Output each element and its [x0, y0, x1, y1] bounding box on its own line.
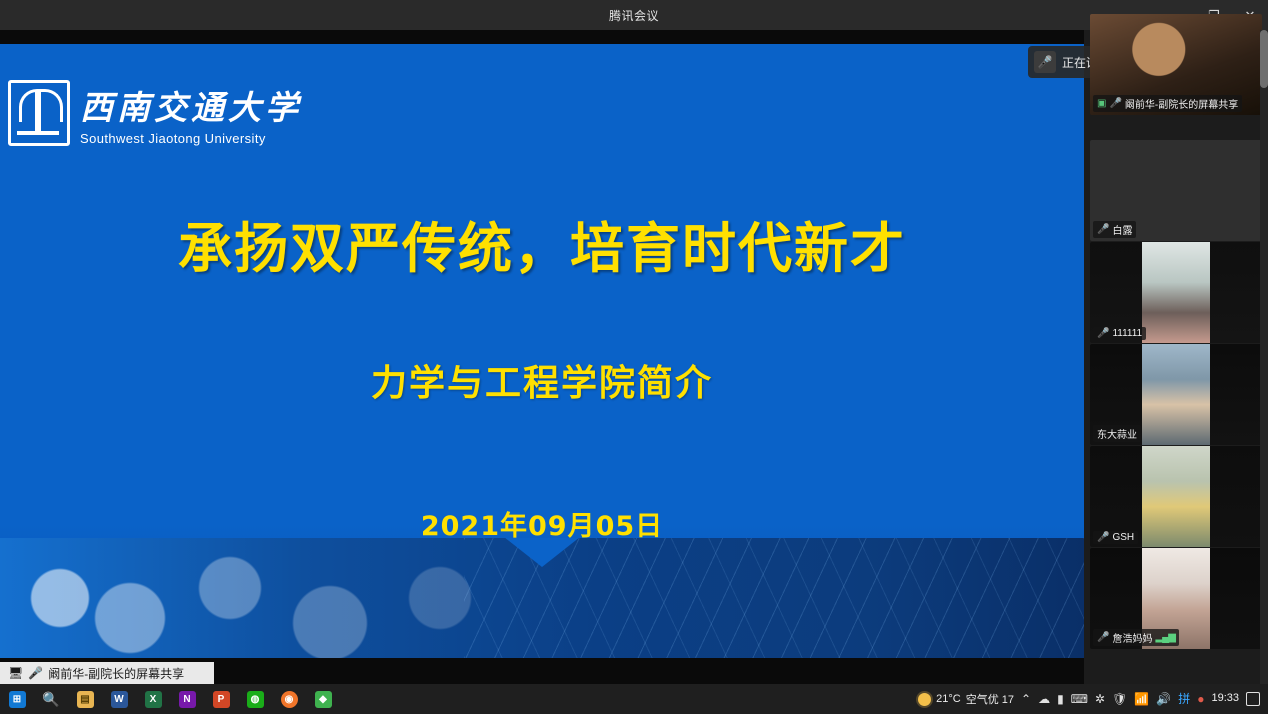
participant-camera-frame — [1142, 344, 1210, 445]
screen-share-label: 阚前华-副院长的屏幕共享 — [48, 665, 184, 682]
keyboard-icon[interactable]: ⌨ — [1071, 693, 1088, 705]
volume-icon[interactable]: 🔊 — [1156, 693, 1171, 705]
scrollbar-thumb[interactable] — [1260, 30, 1268, 88]
shield-icon[interactable]: 🛡 — [1112, 693, 1127, 705]
onenote-icon[interactable]: N — [170, 684, 204, 714]
participant-tile[interactable]: 🎤 詹浩妈妈 ▂▄▆ — [1090, 548, 1262, 649]
participant-scrollbar[interactable] — [1260, 30, 1268, 684]
participant-name-badge: ▣ 🎤 阚前华-副院长的屏幕共享 — [1093, 95, 1242, 112]
participant-name-badge: 🎤 白露 — [1093, 221, 1136, 238]
university-logo: 西南交通大学 Southwest Jiaotong University — [8, 80, 302, 146]
participant-name-badge: 东大蒜业 — [1093, 425, 1141, 442]
microphone-icon: 🎤 — [28, 667, 43, 679]
battery-icon[interactable]: ▮ — [1057, 693, 1064, 705]
screen-share-indicator: 🖥 🎤 阚前华-副院长的屏幕共享 — [0, 662, 214, 684]
microsoft-word-icon[interactable]: W — [102, 684, 136, 714]
university-name-cn: 西南交通大学 — [80, 81, 302, 129]
bluetooth-icon[interactable]: ✲ — [1095, 693, 1105, 705]
presentation-slide: 西南交通大学 Southwest Jiaotong University 承扬双… — [0, 44, 1084, 658]
clock-time: 19:33 — [1211, 693, 1239, 705]
microsoft-excel-icon[interactable]: X — [136, 684, 170, 714]
air-quality: 空气优 17 — [966, 691, 1014, 707]
tray-expand-icon[interactable]: ⌃ — [1021, 693, 1031, 705]
shared-screen-area[interactable]: 西南交通大学 Southwest Jiaotong University 承扬双… — [0, 30, 1084, 684]
weather-temperature: 21°C — [936, 693, 961, 705]
screen: 腾讯会议 — ❐ ✕ 西南交通大学 Southwest Jiaotong Uni… — [0, 0, 1268, 714]
audio-level-icon: ▂▄▆ — [1155, 632, 1174, 643]
participant-camera-frame — [1142, 242, 1210, 343]
microphone-muted-icon: 🎤 — [1034, 51, 1056, 73]
university-crest-icon — [8, 80, 70, 146]
search-icon[interactable]: 🔍 — [34, 684, 68, 714]
microphone-muted-icon: 🎤 — [1097, 532, 1109, 543]
ime-icon[interactable]: 拼 — [1178, 693, 1190, 705]
participant-name: GSH — [1112, 532, 1134, 543]
participant-camera-frame — [1142, 446, 1210, 547]
window-titlebar: 腾讯会议 — ❐ ✕ — [0, 0, 1268, 30]
participant-name-badge: 🎤 GSH — [1093, 531, 1138, 544]
participant-name-badge: 🎤 詹浩妈妈 ▂▄▆ — [1093, 629, 1179, 646]
participant-tile[interactable]: ▣ 🎤 阚前华-副院长的屏幕共享 — [1090, 14, 1262, 115]
band-notch — [504, 538, 580, 567]
participant-tile[interactable]: 🎤 白露 — [1090, 140, 1262, 241]
microphone-icon: 🎤 — [1109, 98, 1121, 109]
participant-tile[interactable]: 🎤 111111 — [1090, 242, 1262, 343]
participant-tile[interactable]: 东大蒜业 — [1090, 344, 1262, 445]
slide-title: 承扬双严传统，培育时代新才 — [0, 204, 1084, 283]
participant-name: 阚前华-副院长的屏幕共享 — [1125, 96, 1238, 111]
cloud-icon[interactable]: ☁ — [1038, 693, 1050, 705]
network-icon[interactable]: 📶 — [1134, 693, 1149, 705]
weather-widget[interactable]: 21°C 空气优 17 — [918, 691, 1014, 707]
university-name-en: Southwest Jiaotong University — [80, 131, 302, 146]
windows-taskbar: ⊞ 🔍 ▤ W X N P ◍ ◉ ◆ 21°C 空气优 17 ⌃ ☁ ▮ ⌨ … — [0, 684, 1268, 714]
taskbar-apps: ⊞ 🔍 ▤ W X N P ◍ ◉ ◆ — [0, 684, 340, 714]
system-tray: 21°C 空气优 17 ⌃ ☁ ▮ ⌨ ✲ 🛡 📶 🔊 拼 ● 19:33 — [918, 691, 1268, 707]
participant-tile[interactable]: 🎤 GSH — [1090, 446, 1262, 547]
cloud-graphic — [0, 538, 520, 658]
windows-start-icon[interactable]: ⊞ — [0, 684, 34, 714]
browser-icon[interactable]: ◉ — [272, 684, 306, 714]
taskbar-clock[interactable]: 19:33 — [1211, 693, 1239, 705]
participant-rail: 🎤 正在讲话: 阚前华-副院长 ↩ ▣ 🎤 阚前华-副院长的屏幕共享 🎤 白露 — [1084, 30, 1268, 684]
slide-decoration-band — [0, 538, 1084, 658]
microphone-muted-icon: 🎤 — [1097, 632, 1109, 643]
microphone-muted-icon: 🎤 — [1097, 224, 1109, 235]
slide-subtitle: 力学与工程学院简介 — [0, 354, 1084, 406]
meeting-body: 西南交通大学 Southwest Jiaotong University 承扬双… — [0, 30, 1268, 684]
university-logo-text: 西南交通大学 Southwest Jiaotong University — [80, 81, 302, 146]
qq-icon[interactable]: ● — [1197, 693, 1204, 705]
notification-icon[interactable] — [1246, 692, 1260, 706]
screen-share-icon: 🖥 — [8, 667, 23, 679]
screen-share-icon: ▣ — [1097, 98, 1106, 109]
file-explorer-icon[interactable]: ▤ — [68, 684, 102, 714]
participant-name-badge: 🎤 111111 — [1093, 327, 1146, 340]
wechat-icon[interactable]: ◍ — [238, 684, 272, 714]
participant-name: 111111 — [1112, 328, 1142, 339]
powerpoint-icon[interactable]: P — [204, 684, 238, 714]
crest-bar — [17, 131, 59, 135]
window-title: 腾讯会议 — [609, 7, 659, 24]
participant-name: 东大蒜业 — [1097, 426, 1137, 441]
microphone-muted-icon: 🎤 — [1097, 328, 1109, 339]
sun-icon — [918, 693, 931, 706]
participant-name: 詹浩妈妈 — [1112, 630, 1152, 645]
green-app-icon[interactable]: ◆ — [306, 684, 340, 714]
participant-name: 白露 — [1112, 222, 1132, 237]
